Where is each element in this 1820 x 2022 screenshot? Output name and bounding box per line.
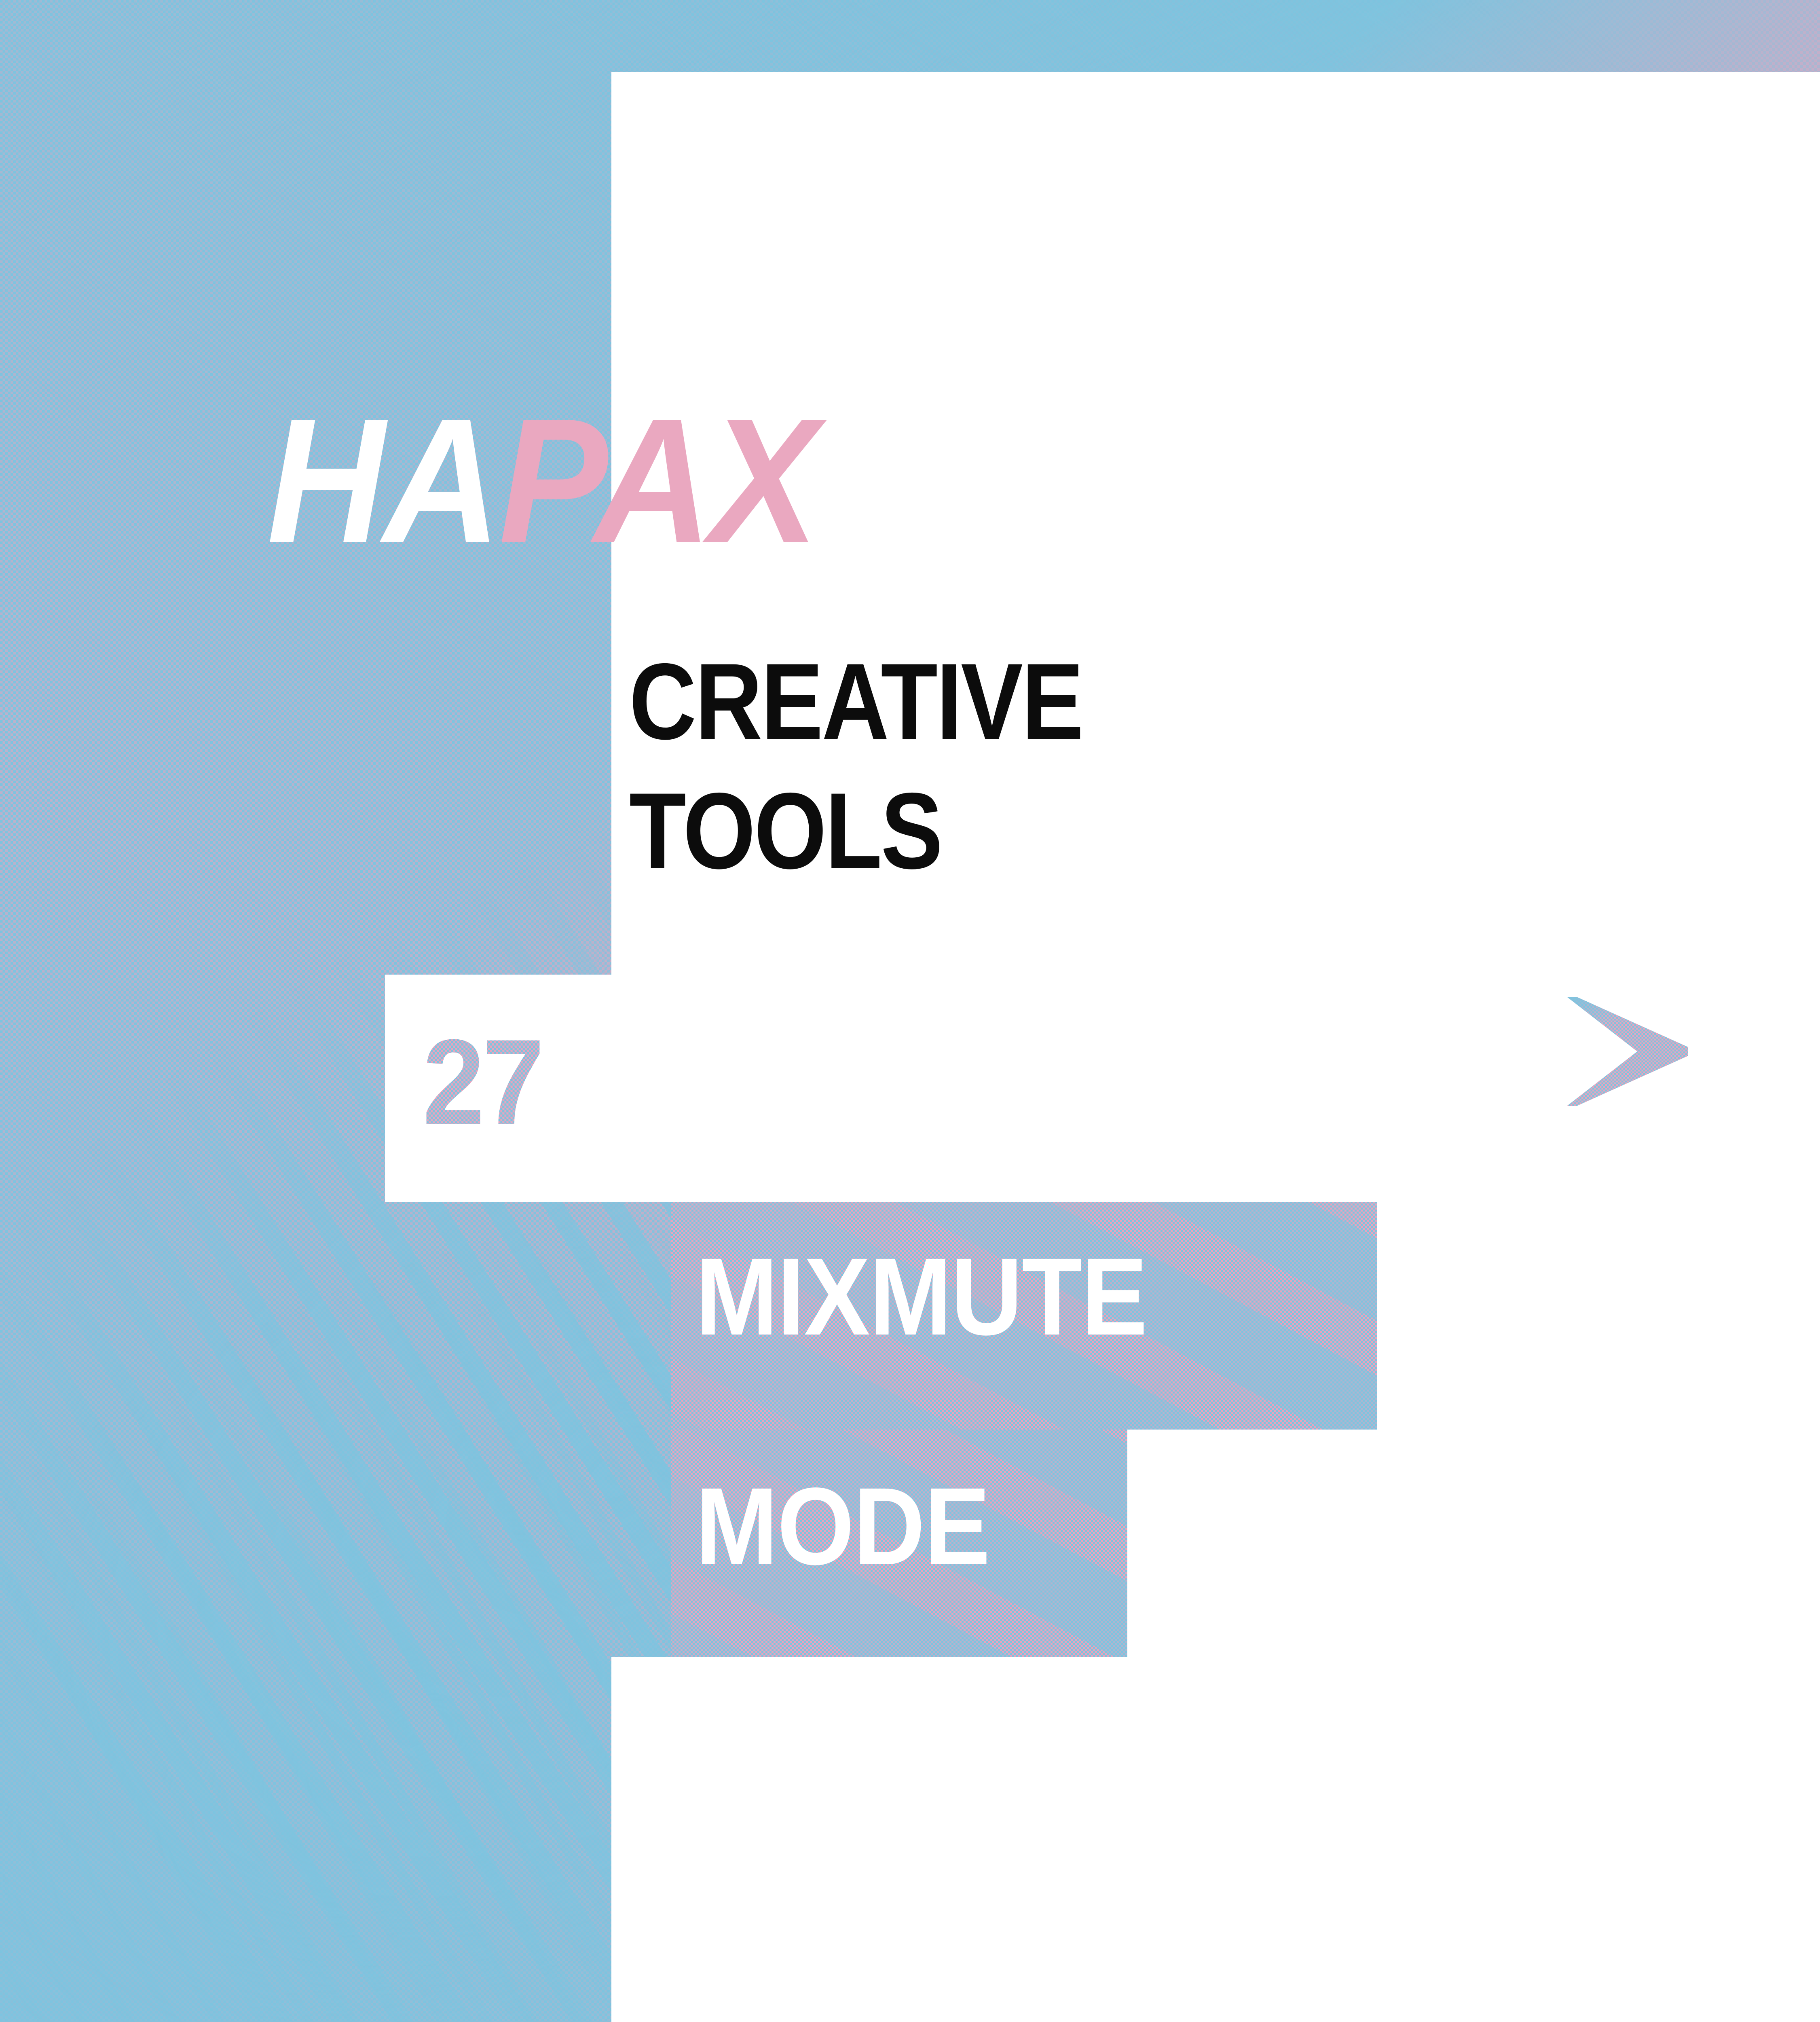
subtitle-line-2: TOOLS (629, 776, 941, 885)
brand-wordmark-white-part: HA (267, 382, 499, 580)
issue-number: 27 (423, 1021, 542, 1142)
chevron-right-icon-texture (1567, 997, 1688, 1106)
chevron-right-icon[interactable] (1567, 997, 1688, 1106)
band-label-mode: MODE (695, 1471, 989, 1581)
panel-mode-right-white (1127, 1430, 1820, 1657)
subtitle-line-1: CREATIVE (629, 647, 1082, 755)
band-label-mixmute: MIXMUTE (695, 1242, 1147, 1352)
poster-canvas: HAPAX CREATIVE TOOLS 27 27 MIXMUTE MODE (0, 0, 1820, 2022)
brand-wordmark-pink-part: PAX (499, 382, 817, 580)
panel-footer-white (611, 1657, 1820, 2022)
panel-right-step-white (1377, 1202, 1820, 1430)
brand-wordmark: HAPAX (267, 392, 816, 570)
